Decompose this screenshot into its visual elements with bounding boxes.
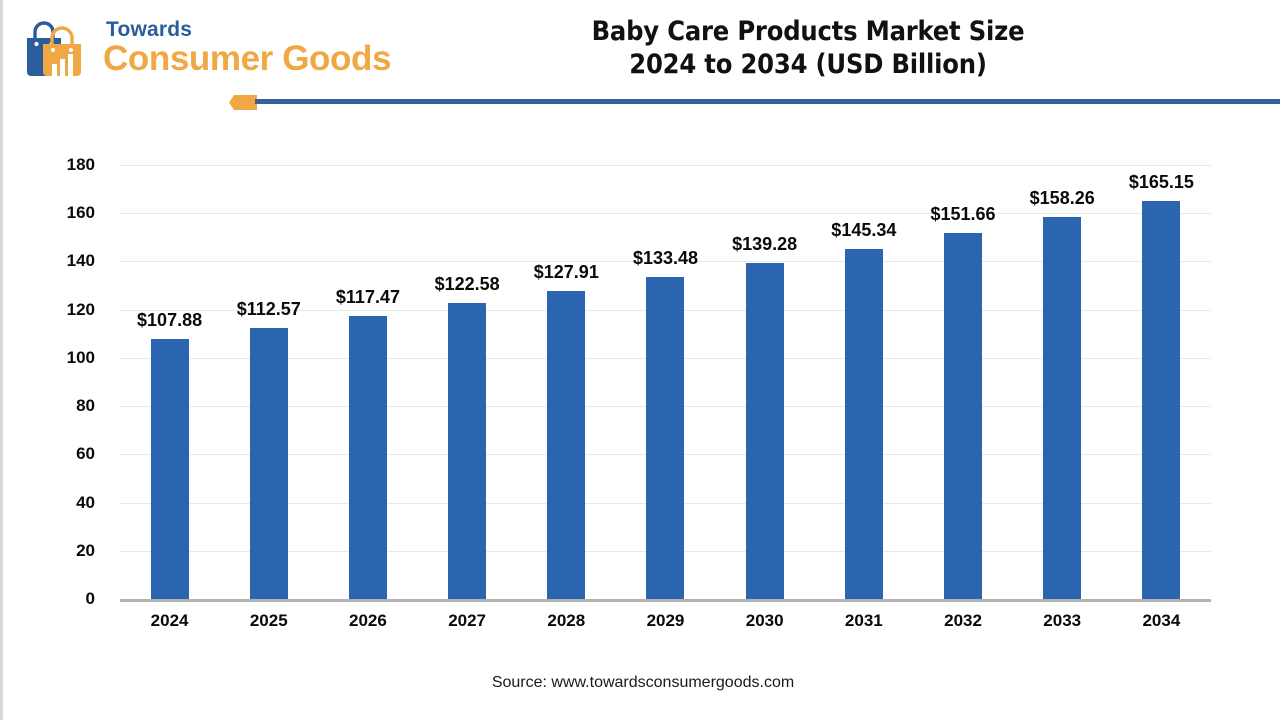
bar-group: $117.472026 xyxy=(318,165,417,599)
bar-value-label: $139.28 xyxy=(732,234,797,255)
title-line-2: 2024 to 2034 (USD Billion) xyxy=(423,49,1193,82)
y-axis-tick-label: 60 xyxy=(31,444,95,464)
bar-group: $139.282030 xyxy=(715,165,814,599)
y-axis-tick-label: 180 xyxy=(31,155,95,175)
bar-group: $133.482029 xyxy=(616,165,715,599)
title-line-1: Baby Care Products Market Size xyxy=(423,16,1193,49)
bar-value-label: $122.58 xyxy=(435,274,500,295)
x-axis-tick-label: 2031 xyxy=(845,611,883,631)
x-axis-tick-label: 2029 xyxy=(647,611,685,631)
x-axis-tick-label: 2032 xyxy=(944,611,982,631)
page-title: Baby Care Products Market Size 2024 to 2… xyxy=(423,16,1193,82)
bar[interactable] xyxy=(349,316,387,599)
bar-value-label: $112.57 xyxy=(237,299,301,320)
chart-page: Towards Consumer Goods Baby Care Product… xyxy=(0,0,1280,720)
bar[interactable] xyxy=(151,339,189,599)
y-axis-tick-label: 0 xyxy=(31,589,95,609)
bar[interactable] xyxy=(944,233,982,599)
bar-value-label: $145.34 xyxy=(831,220,896,241)
bar[interactable] xyxy=(1142,201,1180,599)
shopping-bags-icon xyxy=(17,14,95,80)
bar-group: $151.662032 xyxy=(913,165,1012,599)
bar-value-label: $127.91 xyxy=(534,262,599,283)
bar-value-label: $107.88 xyxy=(137,310,202,331)
bar[interactable] xyxy=(845,249,883,599)
bar-group: $112.572025 xyxy=(219,165,318,599)
bar[interactable] xyxy=(746,263,784,599)
x-axis-tick-label: 2027 xyxy=(448,611,486,631)
bar-group: $158.262033 xyxy=(1013,165,1112,599)
y-axis-tick-label: 20 xyxy=(31,541,95,561)
source-caption: Source: www.towardsconsumergoods.com xyxy=(3,674,1280,692)
x-axis-tick-label: 2030 xyxy=(746,611,784,631)
bar[interactable] xyxy=(547,291,585,599)
y-axis-tick-label: 100 xyxy=(31,348,95,368)
bar-group: $107.882024 xyxy=(120,165,219,599)
bar[interactable] xyxy=(448,303,486,599)
bar-group: $165.152034 xyxy=(1112,165,1211,599)
x-axis-tick-label: 2034 xyxy=(1142,611,1180,631)
bar[interactable] xyxy=(250,328,288,599)
x-axis-baseline xyxy=(120,599,1211,602)
bar[interactable] xyxy=(1043,217,1081,599)
bar-group: $145.342031 xyxy=(814,165,913,599)
bar-group: $127.912028 xyxy=(517,165,616,599)
bar-value-label: $117.47 xyxy=(336,287,400,308)
arrow-marker-icon xyxy=(229,95,257,110)
y-axis-tick-label: 40 xyxy=(31,493,95,513)
brand-wordmark: Towards Consumer Goods xyxy=(103,19,391,76)
bar-group: $122.582027 xyxy=(418,165,517,599)
divider-rule xyxy=(255,99,1280,104)
bar-value-label: $133.48 xyxy=(633,248,698,269)
header-divider xyxy=(3,93,1280,111)
y-axis-tick-label: 120 xyxy=(31,300,95,320)
y-axis-tick-label: 80 xyxy=(31,396,95,416)
brand-line-consumer-goods: Consumer Goods xyxy=(103,41,391,76)
bar[interactable] xyxy=(646,277,684,599)
plot-area: $107.882024$112.572025$117.472026$122.58… xyxy=(120,165,1211,599)
x-axis-tick-label: 2024 xyxy=(151,611,189,631)
x-axis-tick-label: 2033 xyxy=(1043,611,1081,631)
bar-value-label: $151.66 xyxy=(930,204,995,225)
x-axis-tick-label: 2025 xyxy=(250,611,288,631)
brand-line-towards: Towards xyxy=(106,19,391,40)
brand-logo[interactable]: Towards Consumer Goods xyxy=(17,14,391,80)
x-axis-tick-label: 2028 xyxy=(547,611,585,631)
bar-value-label: $158.26 xyxy=(1030,188,1095,209)
y-axis-tick-label: 160 xyxy=(31,203,95,223)
x-axis-tick-label: 2026 xyxy=(349,611,387,631)
y-axis-tick-label: 140 xyxy=(31,251,95,271)
bar-value-label: $165.15 xyxy=(1129,172,1194,193)
